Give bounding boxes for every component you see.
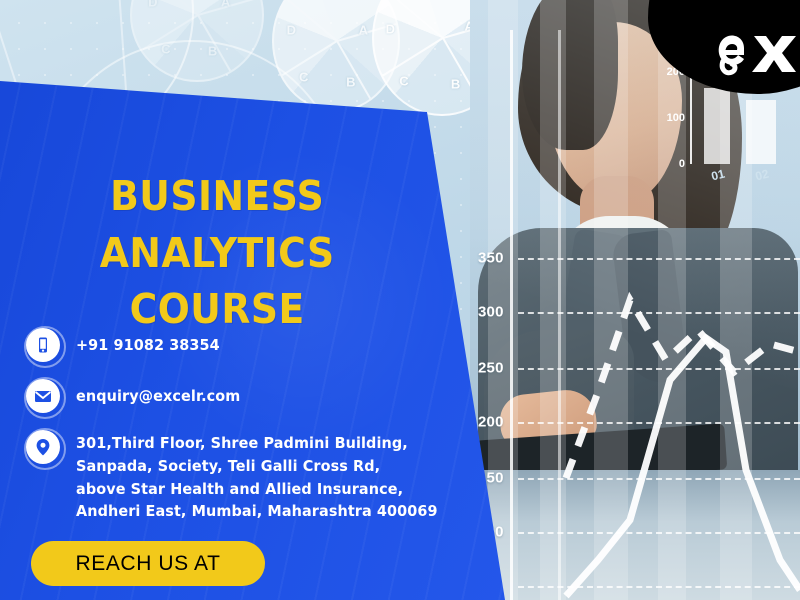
pie-slice-label: B bbox=[208, 44, 217, 59]
dashed-trend-line bbox=[566, 300, 800, 478]
headline-line-1: BUSINESS ANALYTICS bbox=[24, 168, 410, 281]
contact-block: +91 91082 38354 enquiry@excelr.com bbox=[26, 328, 456, 540]
pie-slice-label: B bbox=[451, 76, 460, 91]
pie-slice-label: C bbox=[161, 41, 170, 56]
contact-row-address[interactable]: 301,Third Floor, Shree Padmini Building,… bbox=[26, 430, 456, 523]
pie-slice-label: B bbox=[346, 75, 355, 90]
postal-address: 301,Third Floor, Shree Padmini Building,… bbox=[76, 430, 438, 523]
reach-us-at-button[interactable]: REACH US AT bbox=[31, 541, 265, 586]
pie-slice-label: D bbox=[287, 22, 296, 37]
pie-slice-label: A bbox=[221, 0, 230, 10]
pie-slice-label: D bbox=[386, 21, 395, 36]
pie-slice-label: C bbox=[399, 73, 408, 88]
phone-number: +91 91082 38354 bbox=[76, 328, 220, 357]
address-line: above Star Health and Allied Insurance, bbox=[76, 478, 438, 501]
location-pin-icon bbox=[26, 430, 60, 464]
email-address: enquiry@excelr.com bbox=[76, 379, 240, 408]
address-line: Andheri East, Mumbai, Maharashtra 400069 bbox=[76, 500, 438, 523]
address-line: Sanpada, Society, Teli Galli Cross Rd, bbox=[76, 455, 438, 478]
envelope-icon bbox=[26, 379, 60, 413]
phone-icon bbox=[26, 328, 60, 362]
page-title: BUSINESS ANALYTICS COURSE bbox=[24, 168, 410, 338]
pie-slice-label: C bbox=[299, 69, 308, 84]
contact-row-email[interactable]: enquiry@excelr.com bbox=[26, 379, 456, 413]
excelr-ex-logo[interactable] bbox=[714, 28, 800, 80]
promo-banner: A B C D A B C D A B C D bbox=[0, 0, 800, 600]
contact-row-phone[interactable]: +91 91082 38354 bbox=[26, 328, 456, 362]
pie-slice-label: D bbox=[148, 0, 157, 10]
pie-slice-label: A bbox=[359, 22, 368, 37]
address-line: 301,Third Floor, Shree Padmini Building, bbox=[76, 432, 438, 455]
